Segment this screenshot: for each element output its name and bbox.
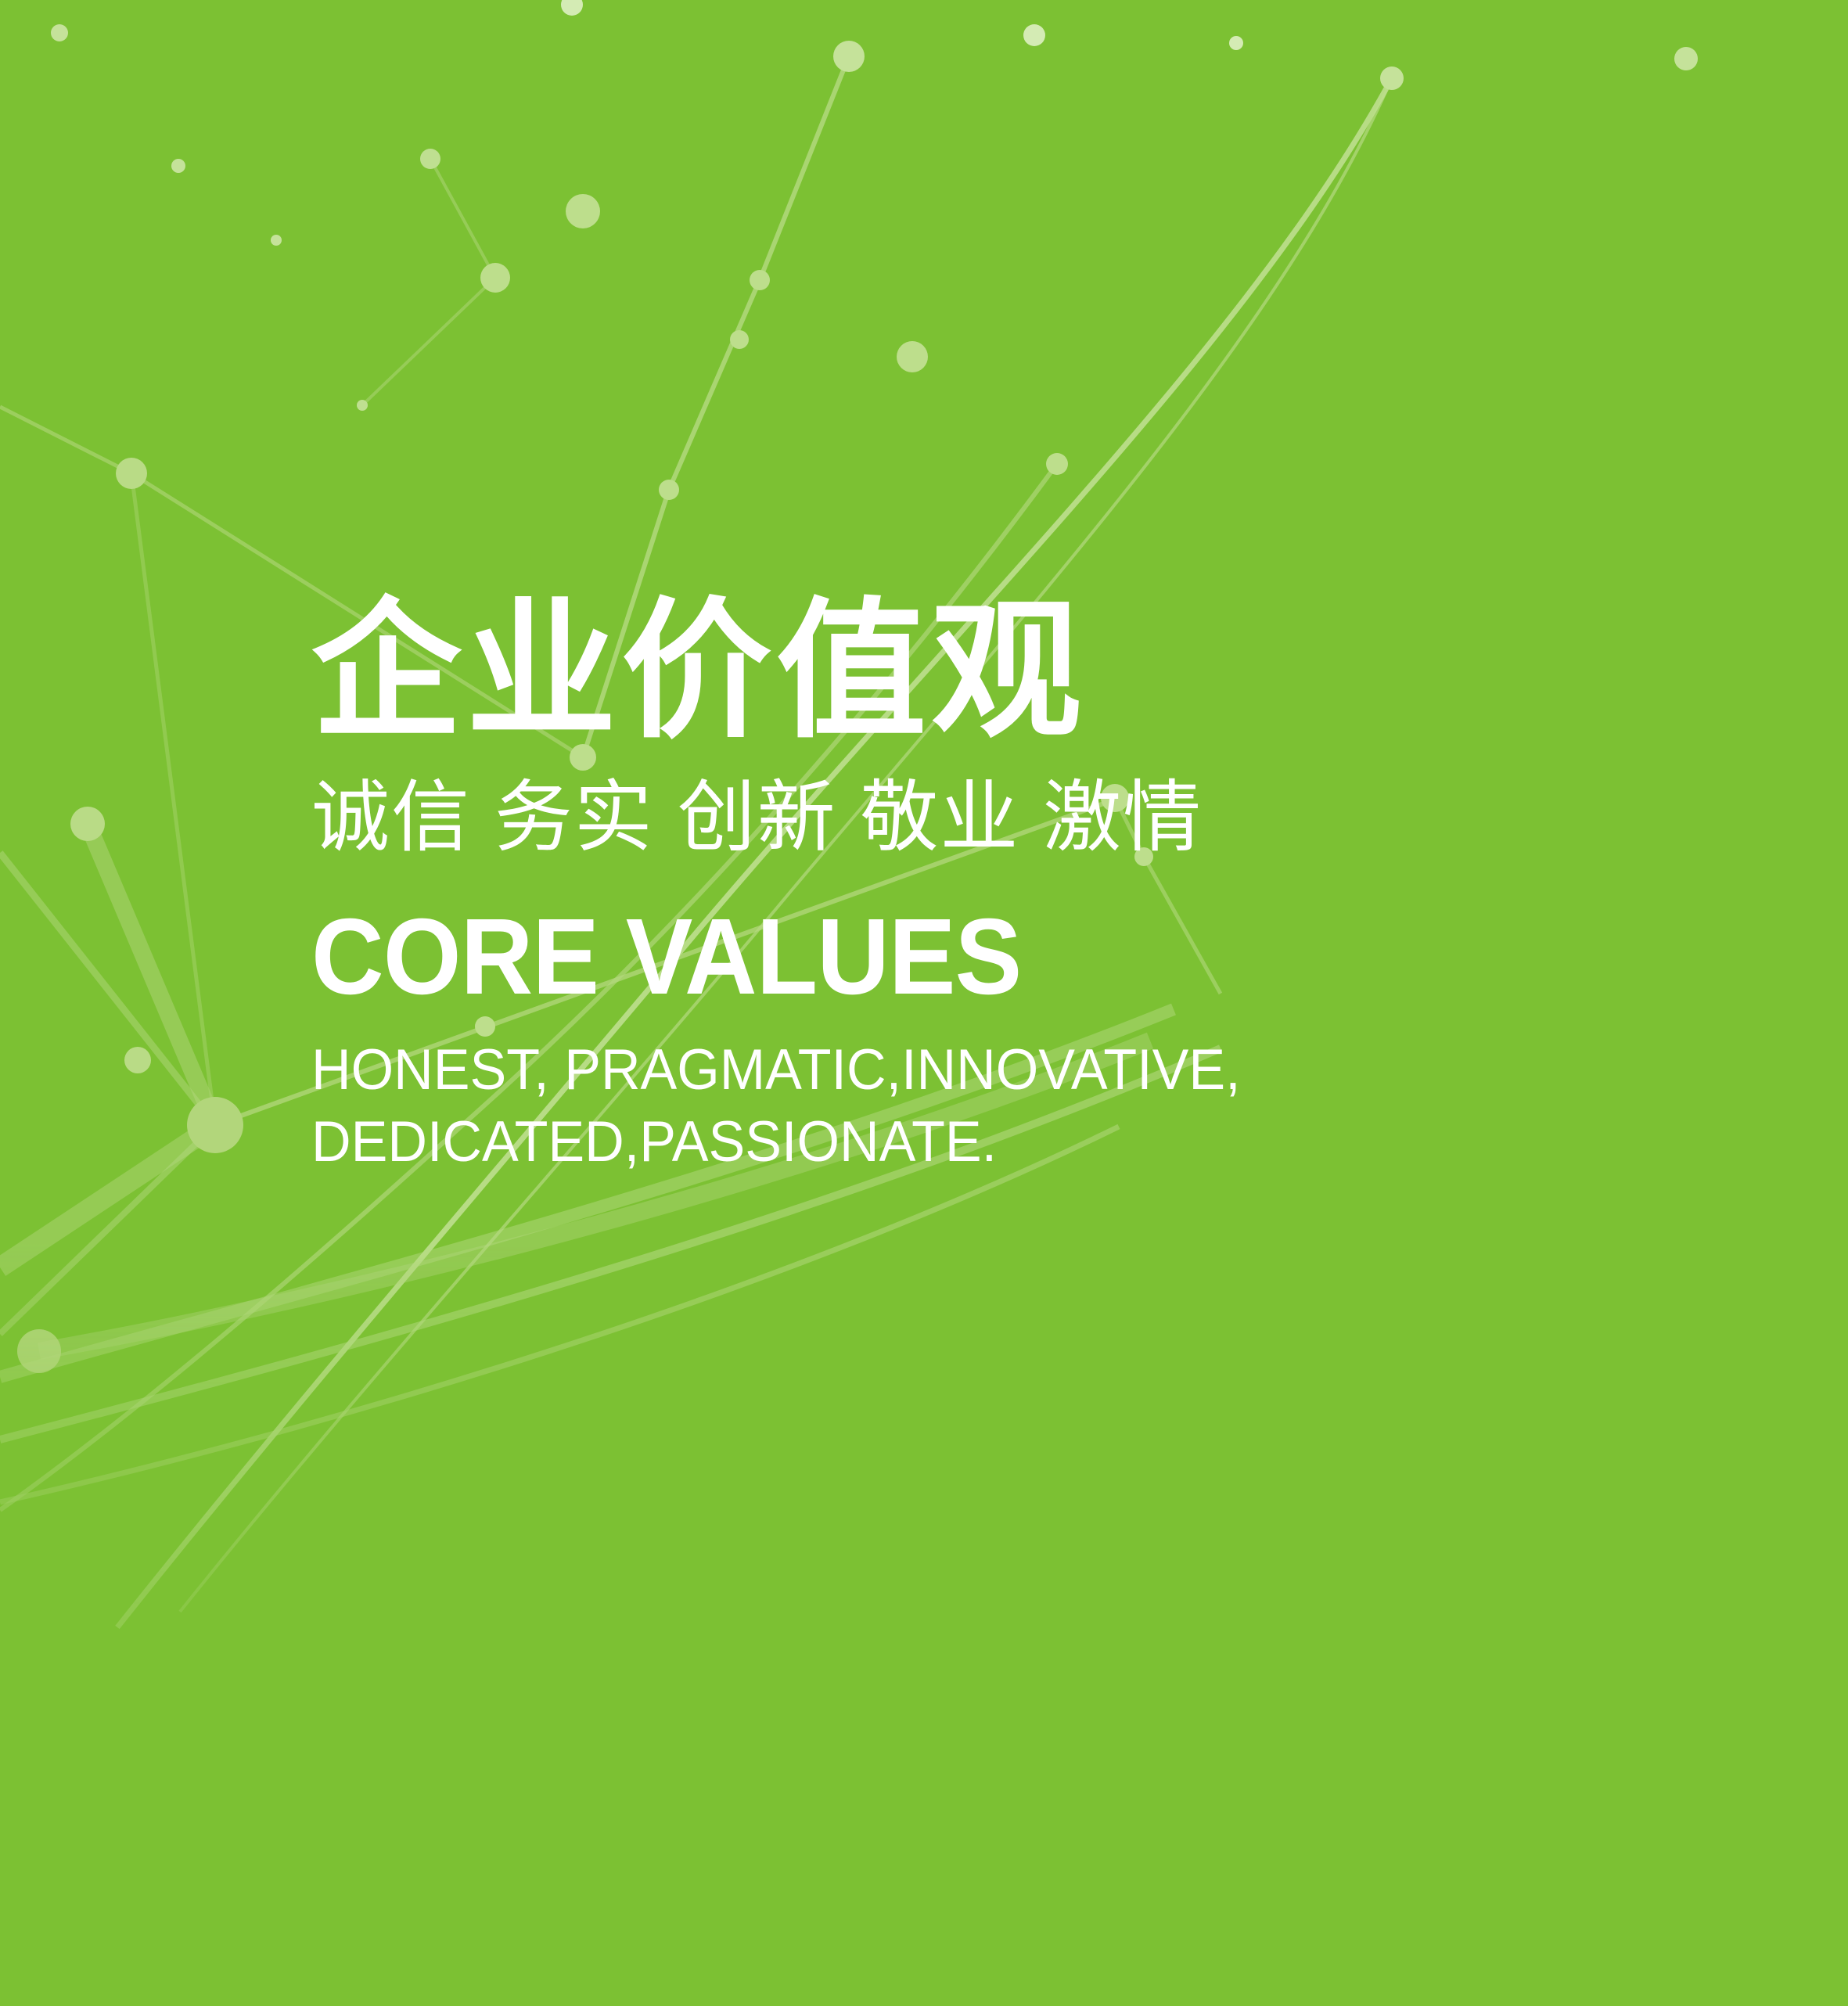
network-node [1380, 67, 1404, 90]
network-node [1229, 36, 1243, 50]
title-english: CORE VALUES [311, 903, 1592, 1011]
line-top-small [362, 159, 495, 405]
subtitle-chinese: 诚信 务实 创新 敬业 激情 [311, 775, 1688, 861]
network-node [70, 807, 105, 841]
network-node [1023, 24, 1045, 46]
network-node [566, 194, 600, 228]
line-node-e [0, 1125, 215, 1334]
network-node [561, 0, 583, 16]
line-node-c [0, 853, 215, 1125]
network-node [730, 330, 749, 349]
line-node-b [88, 824, 215, 1125]
network-node [833, 41, 865, 72]
line-left-vertical [131, 473, 215, 1125]
subtitle-english-line-1: HONEST, PRAGMATIC,INNOVATIVE, [311, 1034, 1634, 1106]
title-chinese: 企业价值观 [311, 595, 1688, 748]
network-node [116, 458, 147, 489]
network-node [187, 1097, 243, 1153]
network-node [357, 400, 368, 411]
subtitle-english-line-2: DEDICATED,PASSIONATE. [311, 1106, 1634, 1178]
network-node [17, 1329, 61, 1373]
network-node [1674, 47, 1698, 70]
network-node [271, 235, 282, 246]
band-4 [0, 1127, 1119, 1502]
network-node [480, 263, 510, 293]
subtitle-english: HONEST, PRAGMATIC,INNOVATIVE, DEDICATED,… [311, 1034, 1634, 1178]
network-node [1046, 453, 1068, 475]
network-node [750, 270, 770, 290]
network-node [171, 159, 185, 173]
network-node [659, 480, 679, 500]
network-node [897, 341, 928, 372]
network-node [420, 149, 440, 169]
core-values-text-block: 企业价值观 诚信 务实 创新 敬业 激情 CORE VALUES HONEST,… [311, 595, 1688, 1178]
line-node-d [0, 1125, 215, 1267]
network-node [124, 1047, 151, 1073]
poster-root: 企业价值观 诚信 务实 创新 敬业 激情 CORE VALUES HONEST,… [0, 0, 1848, 2006]
network-node [51, 24, 68, 41]
